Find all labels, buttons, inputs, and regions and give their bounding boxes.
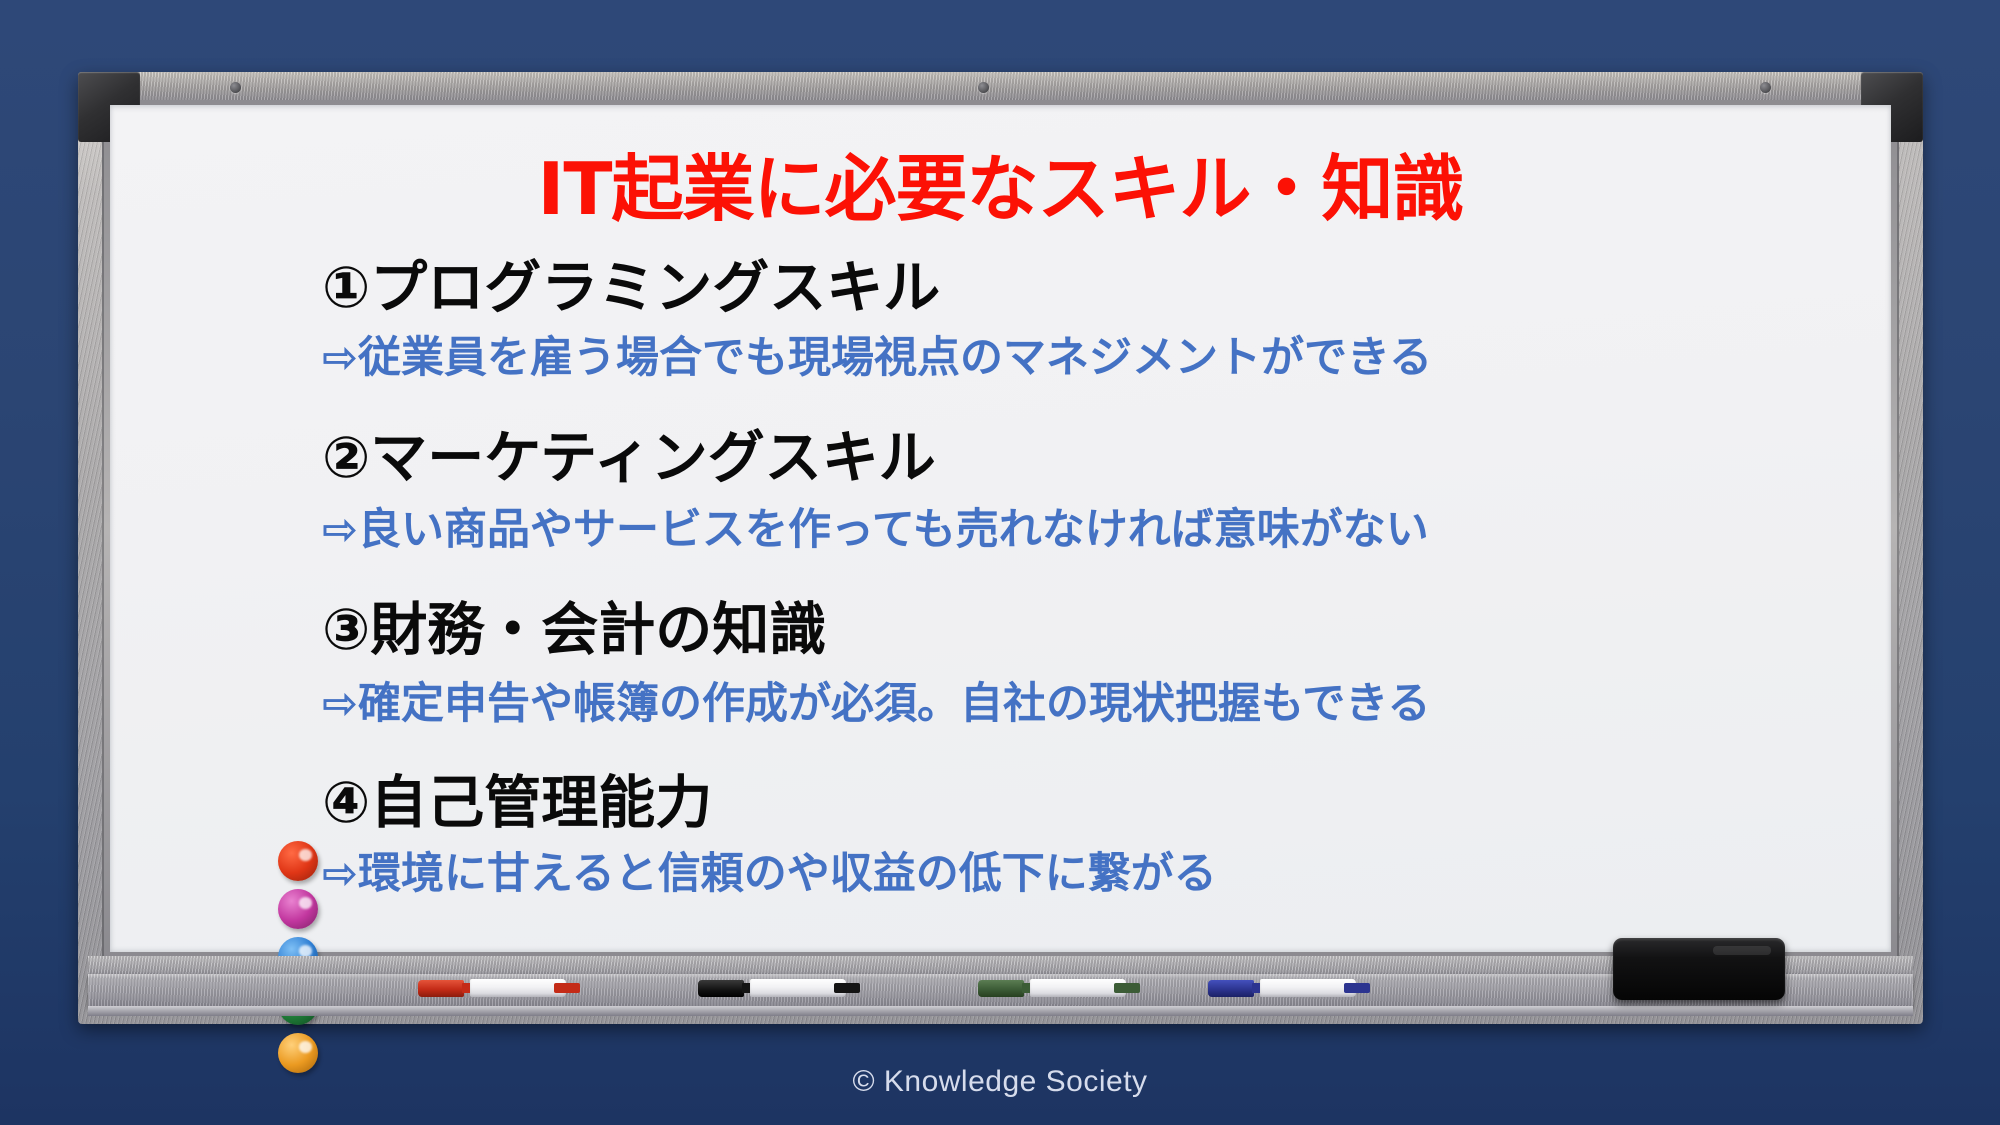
whiteboard-top-rail [104,72,1897,100]
whiteboard-eraser[interactable] [1613,938,1785,1000]
mount-screw-left [230,82,241,93]
list-item-2-heading: ②マーケティングスキル [322,430,936,487]
marker-green-tail [1114,983,1140,993]
page-title: IT起業に必要なスキル・知識 [110,153,1891,225]
marker-blue-tail [1344,983,1370,993]
list-item-1-detail: ⇨従業員を雇う場合でも現場視点のマネジメントができる [322,337,1432,380]
marker-blue-barrel [1260,979,1356,997]
marker-blue[interactable] [1208,978,1376,998]
whiteboard: IT起業に必要なスキル・知識 ①プログラミングスキル ⇨従業員を雇う場合でも現場… [78,72,1923,1024]
marker-red-barrel [470,979,566,997]
marker-black-barrel [750,979,846,997]
marker-red-tail [554,983,580,993]
list-item-2-detail: ⇨良い商品やサービスを作っても売れなければ意味がない [322,509,1429,552]
pen-tray-edge [88,1006,1913,1016]
marker-green-barrel [1030,979,1126,997]
mount-screw-center [978,82,989,93]
pen-tray [88,956,1913,1016]
marker-black-tail [834,983,860,993]
marker-blue-cap [1208,980,1254,997]
magnet-red-icon[interactable] [278,841,318,881]
magnet-magenta-icon[interactable] [278,889,318,929]
list-item-4-heading: ④自己管理能力 [322,775,712,832]
list-item-4-detail: ⇨環境に甘えると信頼のや収益の低下に繋がる [322,853,1217,896]
list-item-3-heading: ③財務・会計の知識 [322,602,826,659]
list-item-3-detail: ⇨確定申告や帳簿の作成が必須。自社の現状把握もできる [322,683,1430,726]
marker-green[interactable] [978,978,1146,998]
marker-black-cap [698,980,744,997]
marker-red[interactable] [418,978,586,998]
slide: IT起業に必要なスキル・知識 ①プログラミングスキル ⇨従業員を雇う場合でも現場… [0,0,2000,1125]
mount-screw-right [1760,82,1771,93]
list-item-1-heading: ①プログラミングスキル [322,260,940,317]
marker-green-cap [978,980,1024,997]
marker-red-cap [418,980,464,997]
footer-copyright: © Knowledge Society [0,1065,2000,1099]
whiteboard-surface: IT起業に必要なスキル・知識 ①プログラミングスキル ⇨従業員を雇う場合でも現場… [110,105,1891,952]
marker-black[interactable] [698,978,866,998]
